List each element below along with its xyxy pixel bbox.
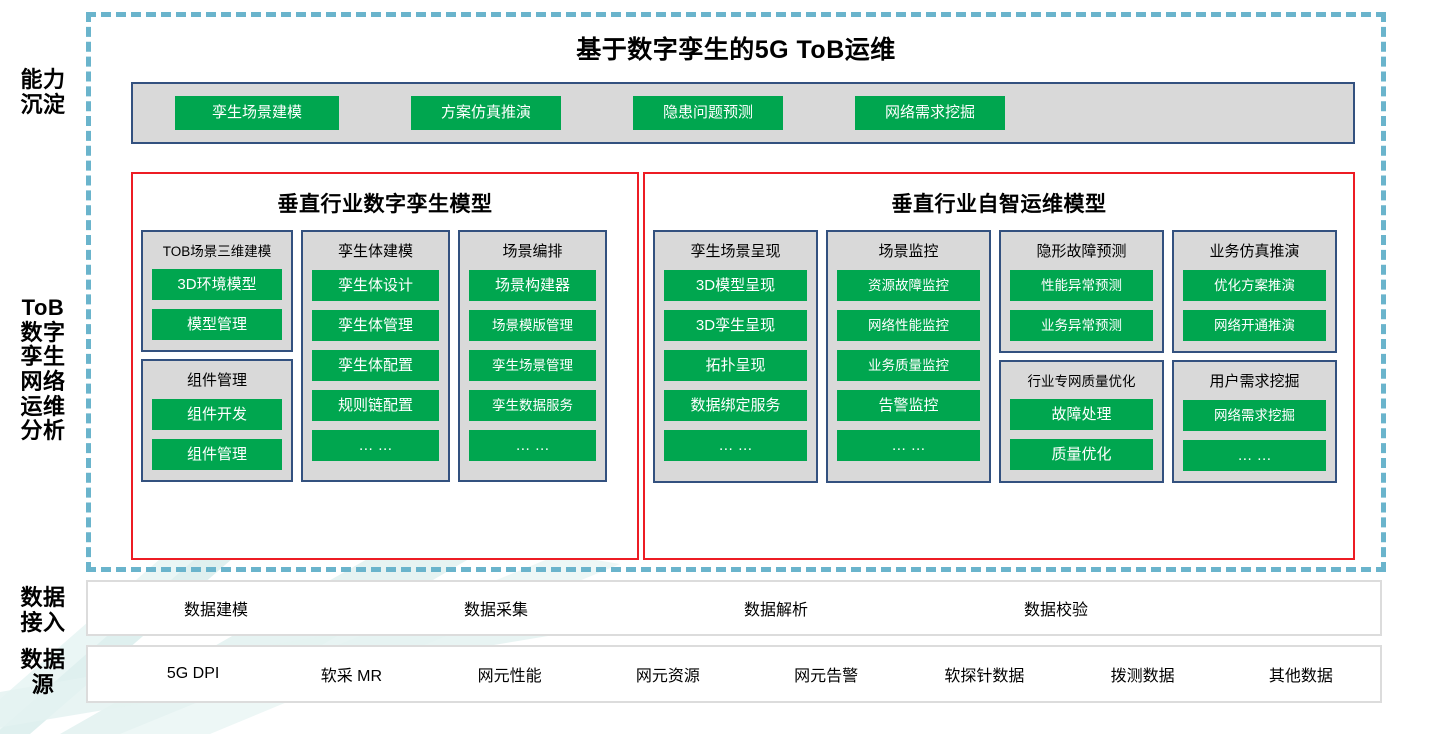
- capability-pill[interactable]: 孪生场景建模: [175, 96, 339, 130]
- data-access-item[interactable]: 数据建模: [184, 596, 464, 620]
- data-source-item[interactable]: 5G DPI: [114, 665, 272, 683]
- group-title: 孪生场景呈现: [664, 240, 807, 261]
- group-item[interactable]: 孪生体设计: [312, 270, 439, 301]
- group-item[interactable]: 3D环境模型: [152, 269, 282, 300]
- group-item[interactable]: 组件管理: [152, 439, 282, 470]
- data-source-item[interactable]: 其他数据: [1222, 662, 1380, 686]
- rail-label-capability: 能力 沉淀: [6, 68, 80, 117]
- group-item[interactable]: … …: [312, 430, 439, 461]
- panel-column: 孪生场景呈现 3D模型呈现 3D孪生呈现 拓扑呈现 数据绑定服务 … …: [653, 230, 818, 483]
- group-item[interactable]: … …: [469, 430, 596, 461]
- group-box: 隐形故障预测 性能异常预测 业务异常预测: [999, 230, 1164, 353]
- group-item[interactable]: 场景构建器: [469, 270, 596, 301]
- group-title: 组件管理: [152, 369, 282, 390]
- data-source-item[interactable]: 软采 MR: [272, 662, 430, 686]
- group-item[interactable]: 模型管理: [152, 309, 282, 340]
- data-access-item[interactable]: 数据校验: [1024, 596, 1304, 620]
- group-title: 行业专网质量优化: [1010, 370, 1153, 390]
- rail-label-data-access: 数据 接入: [6, 586, 80, 635]
- group-item[interactable]: … …: [664, 430, 807, 461]
- group-box: 孪生体建模 孪生体设计 孪生体管理 孪生体配置 规则链配置 … …: [301, 230, 450, 482]
- group-item[interactable]: … …: [1183, 440, 1326, 471]
- group-item[interactable]: … …: [837, 430, 980, 461]
- data-access-item[interactable]: 数据采集: [464, 596, 744, 620]
- page-title: 基于数字孪生的5G ToB运维: [86, 30, 1386, 66]
- group-item[interactable]: 业务异常预测: [1010, 310, 1153, 341]
- group-item[interactable]: 质量优化: [1010, 439, 1153, 470]
- group-box: 场景编排 场景构建器 场景模版管理 孪生场景管理 孪生数据服务 … …: [458, 230, 607, 482]
- model-panel-autonomous-ops: 垂直行业自智运维模型 孪生场景呈现 3D模型呈现 3D孪生呈现 拓扑呈现 数据绑…: [643, 172, 1355, 560]
- group-item[interactable]: 3D孪生呈现: [664, 310, 807, 341]
- capability-pill[interactable]: 网络需求挖掘: [855, 96, 1005, 130]
- panel-column: 业务仿真推演 优化方案推演 网络开通推演 用户需求挖掘 网络需求挖掘 … …: [1172, 230, 1337, 483]
- data-source-item[interactable]: 网元资源: [589, 662, 747, 686]
- panel-title: 垂直行业数字孪生模型: [133, 188, 637, 218]
- group-item[interactable]: 孪生体管理: [312, 310, 439, 341]
- group-item[interactable]: 优化方案推演: [1183, 270, 1326, 301]
- group-item[interactable]: 规则链配置: [312, 390, 439, 421]
- panel-column: TOB场景三维建模 3D环境模型 模型管理 组件管理 组件开发 组件管理: [141, 230, 293, 482]
- capability-strip: 孪生场景建模 方案仿真推演 隐患问题预测 网络需求挖掘: [131, 82, 1355, 144]
- panel-column: 场景编排 场景构建器 场景模版管理 孪生场景管理 孪生数据服务 … …: [458, 230, 607, 482]
- data-source-row: 5G DPI 软采 MR 网元性能 网元资源 网元告警 软探针数据 拨测数据 其…: [86, 645, 1382, 703]
- data-source-item[interactable]: 网元告警: [747, 662, 905, 686]
- data-access-item[interactable]: 数据解析: [744, 596, 1024, 620]
- group-item[interactable]: 组件开发: [152, 399, 282, 430]
- group-box: 用户需求挖掘 网络需求挖掘 … …: [1172, 360, 1337, 483]
- group-title: 隐形故障预测: [1010, 240, 1153, 261]
- group-box: 业务仿真推演 优化方案推演 网络开通推演: [1172, 230, 1337, 353]
- group-box: 行业专网质量优化 故障处理 质量优化: [999, 360, 1164, 483]
- group-item[interactable]: 孪生体配置: [312, 350, 439, 381]
- group-item[interactable]: 故障处理: [1010, 399, 1153, 430]
- group-item[interactable]: 数据绑定服务: [664, 390, 807, 421]
- group-item[interactable]: 孪生数据服务: [469, 390, 596, 421]
- group-title: 业务仿真推演: [1183, 240, 1326, 261]
- rail-label-tob: ToB 数字 孪生 网络 运维 分析: [6, 296, 80, 444]
- group-box: 组件管理 组件开发 组件管理: [141, 359, 293, 482]
- model-panel-digital-twin: 垂直行业数字孪生模型 TOB场景三维建模 3D环境模型 模型管理 组件管理 组件…: [131, 172, 639, 560]
- group-item[interactable]: 网络需求挖掘: [1183, 400, 1326, 431]
- group-item[interactable]: 拓扑呈现: [664, 350, 807, 381]
- rail-label-data-source: 数据 源: [6, 648, 80, 697]
- panel-column: 隐形故障预测 性能异常预测 业务异常预测 行业专网质量优化 故障处理 质量优化: [999, 230, 1164, 483]
- group-title: TOB场景三维建模: [152, 240, 282, 260]
- data-source-item[interactable]: 网元性能: [431, 662, 589, 686]
- group-item[interactable]: 3D模型呈现: [664, 270, 807, 301]
- group-item[interactable]: 孪生场景管理: [469, 350, 596, 381]
- group-item[interactable]: 性能异常预测: [1010, 270, 1153, 301]
- diagram-canvas: 能力 沉淀 ToB 数字 孪生 网络 运维 分析 数据 接入 数据 源 基于数字…: [0, 0, 1438, 734]
- panel-title: 垂直行业自智运维模型: [645, 188, 1353, 218]
- data-source-item[interactable]: 拨测数据: [1064, 662, 1222, 686]
- group-item[interactable]: 业务质量监控: [837, 350, 980, 381]
- group-box: TOB场景三维建模 3D环境模型 模型管理: [141, 230, 293, 352]
- group-box: 场景监控 资源故障监控 网络性能监控 业务质量监控 告警监控 … …: [826, 230, 991, 483]
- panel-column: 孪生体建模 孪生体设计 孪生体管理 孪生体配置 规则链配置 … …: [301, 230, 450, 482]
- group-item[interactable]: 告警监控: [837, 390, 980, 421]
- group-title: 孪生体建模: [312, 240, 439, 261]
- data-source-item[interactable]: 软探针数据: [905, 662, 1063, 686]
- group-box: 孪生场景呈现 3D模型呈现 3D孪生呈现 拓扑呈现 数据绑定服务 … …: [653, 230, 818, 483]
- capability-pill[interactable]: 方案仿真推演: [411, 96, 561, 130]
- group-item[interactable]: 网络性能监控: [837, 310, 980, 341]
- group-title: 场景编排: [469, 240, 596, 261]
- group-item[interactable]: 场景模版管理: [469, 310, 596, 341]
- group-item[interactable]: 网络开通推演: [1183, 310, 1326, 341]
- panel-column: 场景监控 资源故障监控 网络性能监控 业务质量监控 告警监控 … …: [826, 230, 991, 483]
- group-title: 用户需求挖掘: [1183, 370, 1326, 391]
- group-title: 场景监控: [837, 240, 980, 261]
- group-item[interactable]: 资源故障监控: [837, 270, 980, 301]
- capability-pill[interactable]: 隐患问题预测: [633, 96, 783, 130]
- data-access-row: 数据建模 数据采集 数据解析 数据校验: [86, 580, 1382, 636]
